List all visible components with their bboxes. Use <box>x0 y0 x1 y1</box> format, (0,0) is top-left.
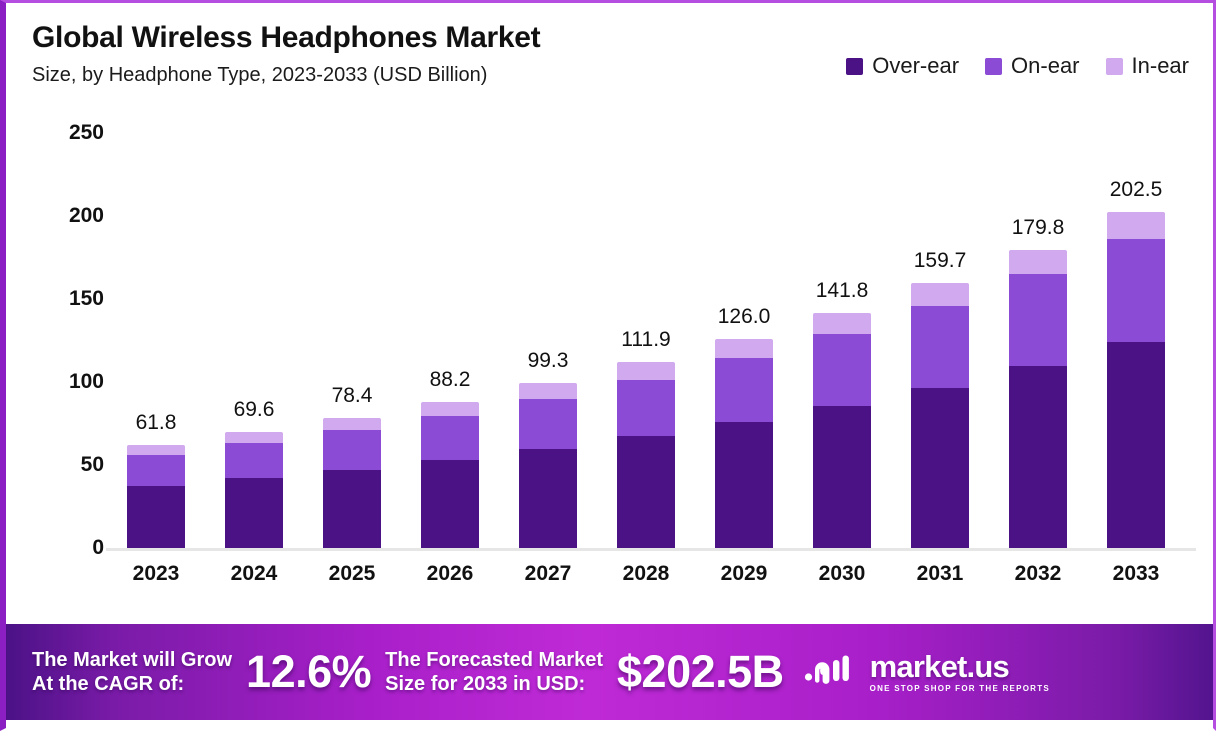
bar-stack[interactable] <box>127 445 185 548</box>
cagr-caption-line2: At the CAGR of: <box>32 673 184 695</box>
bar-stack[interactable] <box>519 383 577 548</box>
chart-plot-area: 050100150200250 61.8202369.6202478.42025… <box>6 3 1216 603</box>
brand-name: market.us <box>870 651 1050 682</box>
bar-total-label-2027: 99.3 <box>483 349 613 373</box>
bar-stack[interactable] <box>911 283 969 548</box>
bar-group-2033[interactable]: 202.52033 <box>1107 3 1165 548</box>
bar-segment-over-ear[interactable] <box>323 470 381 548</box>
bar-segment-in-ear[interactable] <box>421 402 479 416</box>
bar-segment-on-ear[interactable] <box>1009 274 1067 366</box>
y-axis-tick-50: 50 <box>81 453 104 477</box>
bar-group-2024[interactable]: 69.62024 <box>225 3 283 548</box>
bar-segment-in-ear[interactable] <box>127 445 185 455</box>
bar-stack[interactable] <box>1009 250 1067 548</box>
summary-banner: The Market will Grow At the CAGR of: 12.… <box>6 624 1213 720</box>
bar-group-2030[interactable]: 141.82030 <box>813 3 871 548</box>
cagr-caption: The Market will Grow At the CAGR of: <box>32 648 232 697</box>
bar-stack[interactable] <box>323 418 381 548</box>
bar-segment-over-ear[interactable] <box>617 436 675 548</box>
y-axis-tick-150: 150 <box>69 287 104 311</box>
bar-segment-on-ear[interactable] <box>617 380 675 436</box>
bar-group-2028[interactable]: 111.92028 <box>617 3 675 548</box>
bar-total-label-2033: 202.5 <box>1071 178 1201 202</box>
bar-stack[interactable] <box>813 313 871 548</box>
x-axis-label-2033: 2033 <box>1071 562 1201 586</box>
cagr-caption-line1: The Market will Grow <box>32 649 232 671</box>
bar-segment-over-ear[interactable] <box>421 460 479 548</box>
bar-segment-on-ear[interactable] <box>813 334 871 406</box>
bar-segment-on-ear[interactable] <box>519 399 577 449</box>
bar-segment-on-ear[interactable] <box>911 306 969 387</box>
cagr-value: 12.6% <box>246 646 371 698</box>
bar-stack[interactable] <box>715 339 773 548</box>
bar-total-label-2030: 141.8 <box>777 279 907 303</box>
bar-stack[interactable] <box>617 362 675 548</box>
bar-segment-in-ear[interactable] <box>1107 212 1165 239</box>
y-axis-tick-200: 200 <box>69 204 104 228</box>
y-axis: 050100150200250 <box>30 3 104 603</box>
bar-group-2027[interactable]: 99.32027 <box>519 3 577 548</box>
forecast-caption-line2: Size for 2033 in USD: <box>385 673 585 695</box>
bar-segment-over-ear[interactable] <box>127 486 185 548</box>
bar-segment-in-ear[interactable] <box>225 432 283 443</box>
bar-segment-in-ear[interactable] <box>1009 250 1067 274</box>
bar-segment-over-ear[interactable] <box>1009 366 1067 548</box>
forecast-caption: The Forecasted Market Size for 2033 in U… <box>385 648 603 697</box>
market-us-logo-icon <box>804 653 860 692</box>
bar-group-2031[interactable]: 159.72031 <box>911 3 969 548</box>
bar-segment-in-ear[interactable] <box>911 283 969 306</box>
bar-segment-over-ear[interactable] <box>1107 342 1165 548</box>
bar-total-label-2028: 111.9 <box>581 328 711 352</box>
bar-segment-over-ear[interactable] <box>225 478 283 548</box>
bar-group-2032[interactable]: 179.82032 <box>1009 3 1067 548</box>
bar-total-label-2031: 159.7 <box>875 249 1005 273</box>
y-axis-tick-0: 0 <box>92 536 104 560</box>
bar-group-2025[interactable]: 78.42025 <box>323 3 381 548</box>
bar-segment-on-ear[interactable] <box>1107 239 1165 342</box>
bar-total-label-2032: 179.8 <box>973 216 1103 240</box>
bar-segment-in-ear[interactable] <box>323 418 381 430</box>
brand-wordmark: market.us ONE STOP SHOP FOR THE REPORTS <box>870 651 1050 693</box>
y-axis-tick-250: 250 <box>69 121 104 145</box>
infographic-root: Global Wireless Headphones Market Size, … <box>0 0 1216 731</box>
bar-group-2026[interactable]: 88.22026 <box>421 3 479 548</box>
y-axis-tick-100: 100 <box>69 370 104 394</box>
bar-segment-in-ear[interactable] <box>617 362 675 379</box>
bar-group-2029[interactable]: 126.02029 <box>715 3 773 548</box>
bar-series-container: 61.8202369.6202478.4202588.2202699.32027… <box>106 3 1196 548</box>
bar-group-2023[interactable]: 61.82023 <box>127 3 185 548</box>
brand-logo[interactable]: market.us ONE STOP SHOP FOR THE REPORTS <box>804 651 1050 693</box>
forecast-value: $202.5B <box>617 646 784 698</box>
bar-segment-on-ear[interactable] <box>421 416 479 460</box>
x-axis-baseline <box>106 548 1196 551</box>
bar-segment-in-ear[interactable] <box>813 313 871 334</box>
bar-segment-on-ear[interactable] <box>225 443 283 478</box>
bar-stack[interactable] <box>1107 212 1165 548</box>
bar-stack[interactable] <box>421 402 479 548</box>
bar-segment-in-ear[interactable] <box>519 383 577 399</box>
bar-segment-on-ear[interactable] <box>127 455 185 486</box>
bar-segment-over-ear[interactable] <box>911 388 969 548</box>
bar-segment-over-ear[interactable] <box>519 449 577 548</box>
bar-segment-on-ear[interactable] <box>715 358 773 422</box>
bar-segment-over-ear[interactable] <box>813 406 871 548</box>
bar-stack[interactable] <box>225 432 283 548</box>
forecast-caption-line1: The Forecasted Market <box>385 649 603 671</box>
bar-segment-in-ear[interactable] <box>715 339 773 358</box>
bar-total-label-2029: 126.0 <box>679 305 809 329</box>
brand-tagline: ONE STOP SHOP FOR THE REPORTS <box>870 685 1050 693</box>
bar-segment-on-ear[interactable] <box>323 430 381 469</box>
bar-segment-over-ear[interactable] <box>715 422 773 548</box>
